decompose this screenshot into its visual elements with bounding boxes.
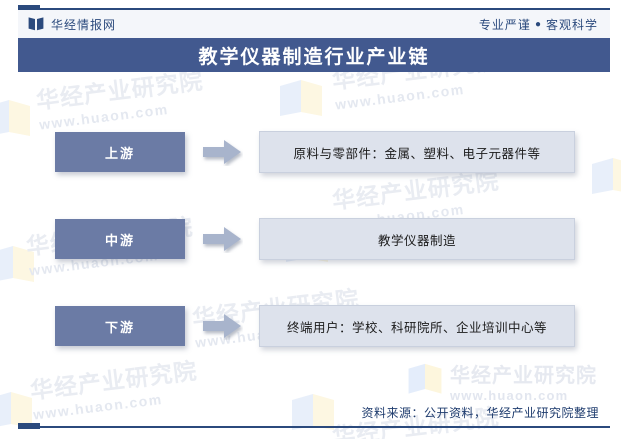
watermark-url: www.huaon.com bbox=[334, 432, 503, 439]
source-note: 资料来源：公开资料，华经产业研究院整理 bbox=[361, 404, 599, 421]
open-book-icon bbox=[28, 17, 44, 31]
chain-row: 中游 教学仪器制造 bbox=[55, 217, 575, 261]
stage-box-upstream: 上游 bbox=[55, 132, 185, 172]
description-text: 原料与零部件：金属、塑料、电子元器件等 bbox=[293, 143, 540, 162]
description-text: 终端用户：学校、科研院所、企业培训中心等 bbox=[287, 317, 547, 336]
arrow-container bbox=[185, 138, 259, 166]
watermark-book-icon bbox=[0, 384, 34, 439]
title-band: 教学仪器制造行业产业链 bbox=[18, 38, 610, 72]
tagline-left: 专业严谨 bbox=[479, 18, 531, 32]
header-bar: 华经情报网 专业严谨●客观科学 bbox=[18, 10, 610, 38]
description-box-midstream: 教学仪器制造 bbox=[259, 218, 575, 260]
tagline-right: 客观科学 bbox=[546, 18, 598, 32]
stage-label: 中游 bbox=[105, 230, 135, 249]
bottom-divider-cap bbox=[18, 423, 40, 429]
right-arrow-icon bbox=[201, 138, 243, 166]
stage-label: 下游 bbox=[105, 317, 135, 336]
brand-name: 华经情报网 bbox=[51, 16, 116, 33]
right-arrow-icon bbox=[201, 312, 243, 340]
bottom-divider bbox=[18, 426, 610, 428]
stage-label: 上游 bbox=[105, 143, 135, 162]
infographic-page: 华经产业研究院 www.huaon.com 华经产业研究院 www.huaon.… bbox=[0, 0, 621, 439]
chain-row: 上游 原料与零部件：金属、塑料、电子元器件等 bbox=[55, 130, 575, 174]
arrow-container bbox=[185, 225, 259, 253]
brand: 华经情报网 bbox=[28, 16, 116, 33]
description-box-downstream: 终端用户：学校、科研院所、企业培训中心等 bbox=[259, 305, 575, 347]
chain-row: 下游 终端用户：学校、科研院所、企业培训中心等 bbox=[55, 304, 575, 348]
description-box-upstream: 原料与零部件：金属、塑料、电子元器件等 bbox=[259, 131, 575, 173]
watermark-book-icon bbox=[290, 386, 336, 439]
arrow-container bbox=[185, 312, 259, 340]
stage-box-midstream: 中游 bbox=[55, 219, 185, 259]
right-arrow-icon bbox=[201, 225, 243, 253]
value-chain: 上游 原料与零部件：金属、塑料、电子元器件等 bbox=[0, 72, 621, 392]
page-title: 教学仪器制造行业产业链 bbox=[198, 42, 429, 69]
description-text: 教学仪器制造 bbox=[378, 230, 456, 249]
tagline-dot: ● bbox=[535, 19, 542, 30]
stage-box-downstream: 下游 bbox=[55, 306, 185, 346]
header-tagline: 专业严谨●客观科学 bbox=[479, 16, 598, 33]
